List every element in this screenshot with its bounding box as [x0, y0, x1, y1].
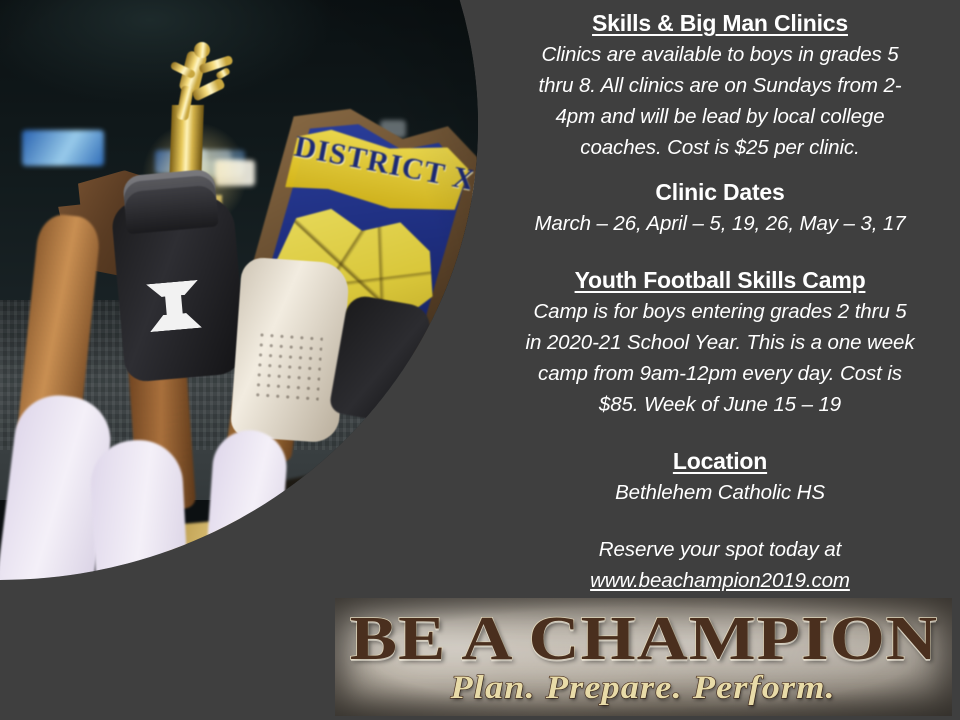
logo-title: BE A CHAMPION [349, 609, 937, 669]
camp-heading: Youth Football Skills Camp [485, 265, 955, 296]
location-value: Bethlehem Catholic HS [485, 477, 955, 508]
under-armour-logo-icon [146, 280, 202, 332]
clinic-dates-line: March – 26, April – 5, 19, 26, May – 3, … [485, 208, 955, 239]
clinic-dates-section: Clinic Dates March – 26, April – 5, 19, … [485, 177, 955, 239]
white-football-glove [230, 256, 350, 443]
scoreboard-panel [22, 130, 104, 166]
shadow-mass [0, 588, 141, 720]
location-section: Location Bethlehem Catholic HS [485, 446, 955, 508]
camp-body-line: camp from 9am-12pm every day. Cost is [485, 358, 955, 389]
location-heading: Location [485, 446, 955, 477]
clinics-body-line: 4pm and will be lead by local college [485, 101, 955, 132]
player-sleeve [89, 438, 196, 720]
gold-jersey [164, 515, 301, 720]
info-text-panel: Skills & Big Man Clinics Clinics are ava… [480, 0, 960, 600]
clinics-body-line: thru 8. All clinics are on Sundays from … [485, 70, 955, 101]
trophy-figure-head [194, 42, 210, 58]
reserve-section: Reserve your spot today at www.beachampi… [485, 534, 955, 596]
clinics-body-line: coaches. Cost is $25 per clinic. [485, 132, 955, 163]
clinics-body-line: Clinics are available to boys in grades … [485, 39, 955, 70]
clinics-section: Skills & Big Man Clinics Clinics are ava… [485, 0, 955, 163]
camp-body-line: Camp is for boys entering grades 2 thru … [485, 296, 955, 327]
camp-section: Youth Football Skills Camp Camp is for b… [485, 265, 955, 420]
reserve-call-to-action: Reserve your spot today at [485, 534, 955, 565]
reserve-website-link[interactable]: www.beachampion2019.com [485, 565, 955, 596]
clinic-dates-heading: Clinic Dates [485, 177, 955, 208]
flyer-slide: DISTRICT XI [0, 0, 960, 720]
camp-body-line: in 2020-21 School Year. This is a one we… [485, 327, 955, 358]
be-a-champion-logo: BE A CHAMPION Plan. Prepare. Perform. [335, 598, 952, 716]
logo-tagline: Plan. Prepare. Perform. [451, 671, 836, 705]
clinics-heading: Skills & Big Man Clinics [485, 8, 955, 39]
camp-body-line: $85. Week of June 15 – 19 [485, 389, 955, 420]
